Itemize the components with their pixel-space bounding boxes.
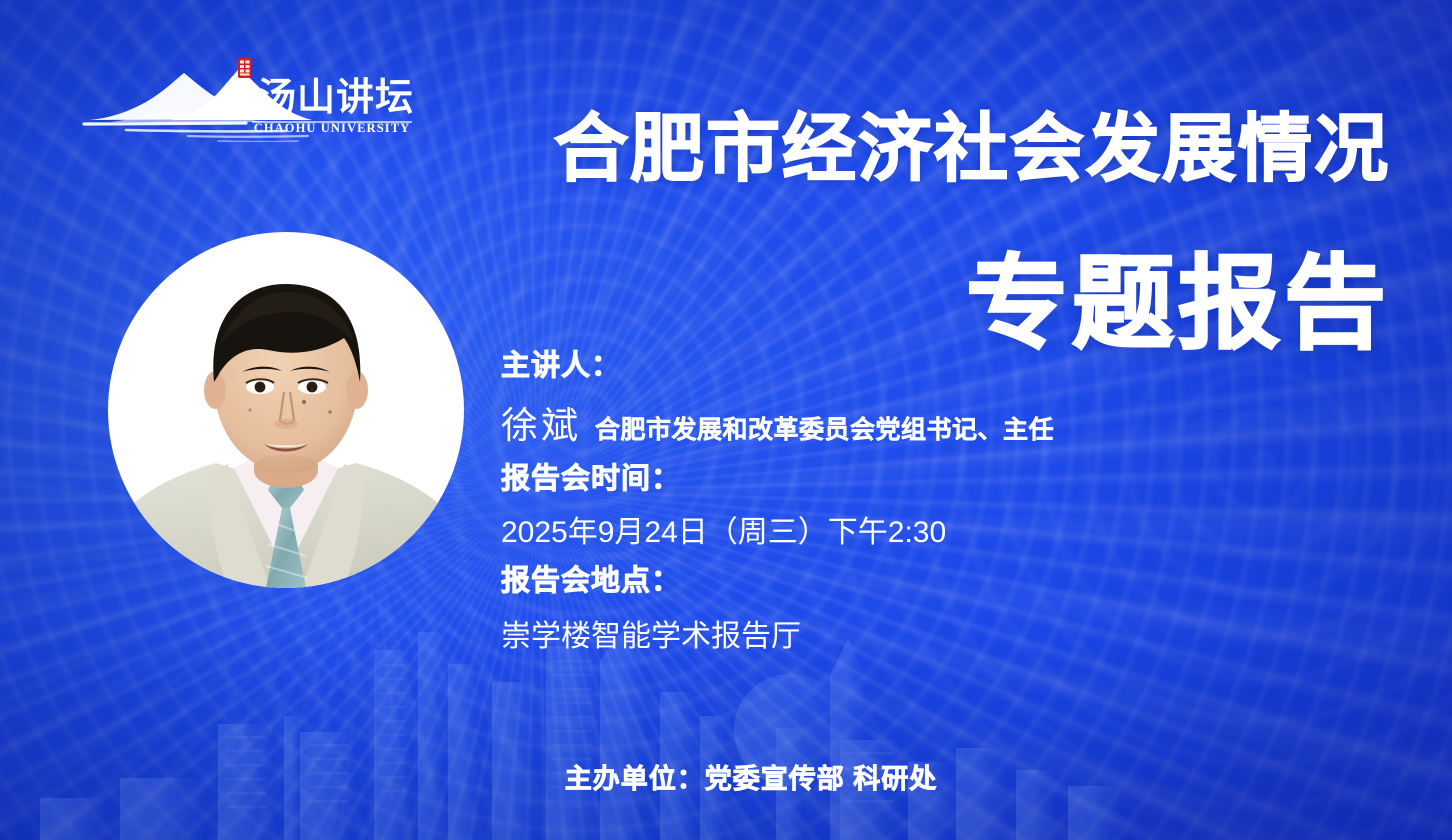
time-value: 2025年9月24日（周三）下午2:30 [501, 507, 1241, 551]
red-seal-icon [238, 58, 251, 78]
logo-english-name: CHAOHU UNIVERSITY [254, 121, 411, 135]
page-subtitle: 专题报告 [430, 253, 1390, 355]
organizers: 主办单位：党委宣传部 科研处 [0, 757, 1452, 796]
speaker-name: 徐斌 [501, 395, 581, 449]
speaker-label: 主讲人： [501, 348, 1241, 385]
logo: 汤山讲坛 CHAOHU UNIVERSITY [76, 54, 416, 142]
speaker-portrait-image [108, 232, 464, 588]
time-label: 报告会时间： [501, 461, 1241, 498]
logo-graphic: 汤山讲坛 CHAOHU UNIVERSITY [76, 54, 416, 142]
avatar [108, 232, 464, 588]
place-label: 报告会地点： [501, 563, 1241, 600]
speaker-row: 徐斌 合肥市发展和改革委员会党组书记、主任 [501, 395, 1241, 449]
place-value: 崇学楼智能学术报告厅 [501, 611, 1241, 655]
logo-chinese-name: 汤山讲坛 [258, 77, 414, 119]
page-title: 合肥市经济社会发展情况 [430, 112, 1390, 186]
speaker-title: 合肥市发展和改革委员会党组书记、主任 [595, 410, 1054, 446]
event-details: 主讲人： 徐斌 合肥市发展和改革委员会党组书记、主任 报告会时间： 2025年9… [501, 348, 1241, 667]
poster-canvas: 汤山讲坛 CHAOHU UNIVERSITY 合肥市经济社会发展情况 专题报告 [0, 0, 1452, 840]
